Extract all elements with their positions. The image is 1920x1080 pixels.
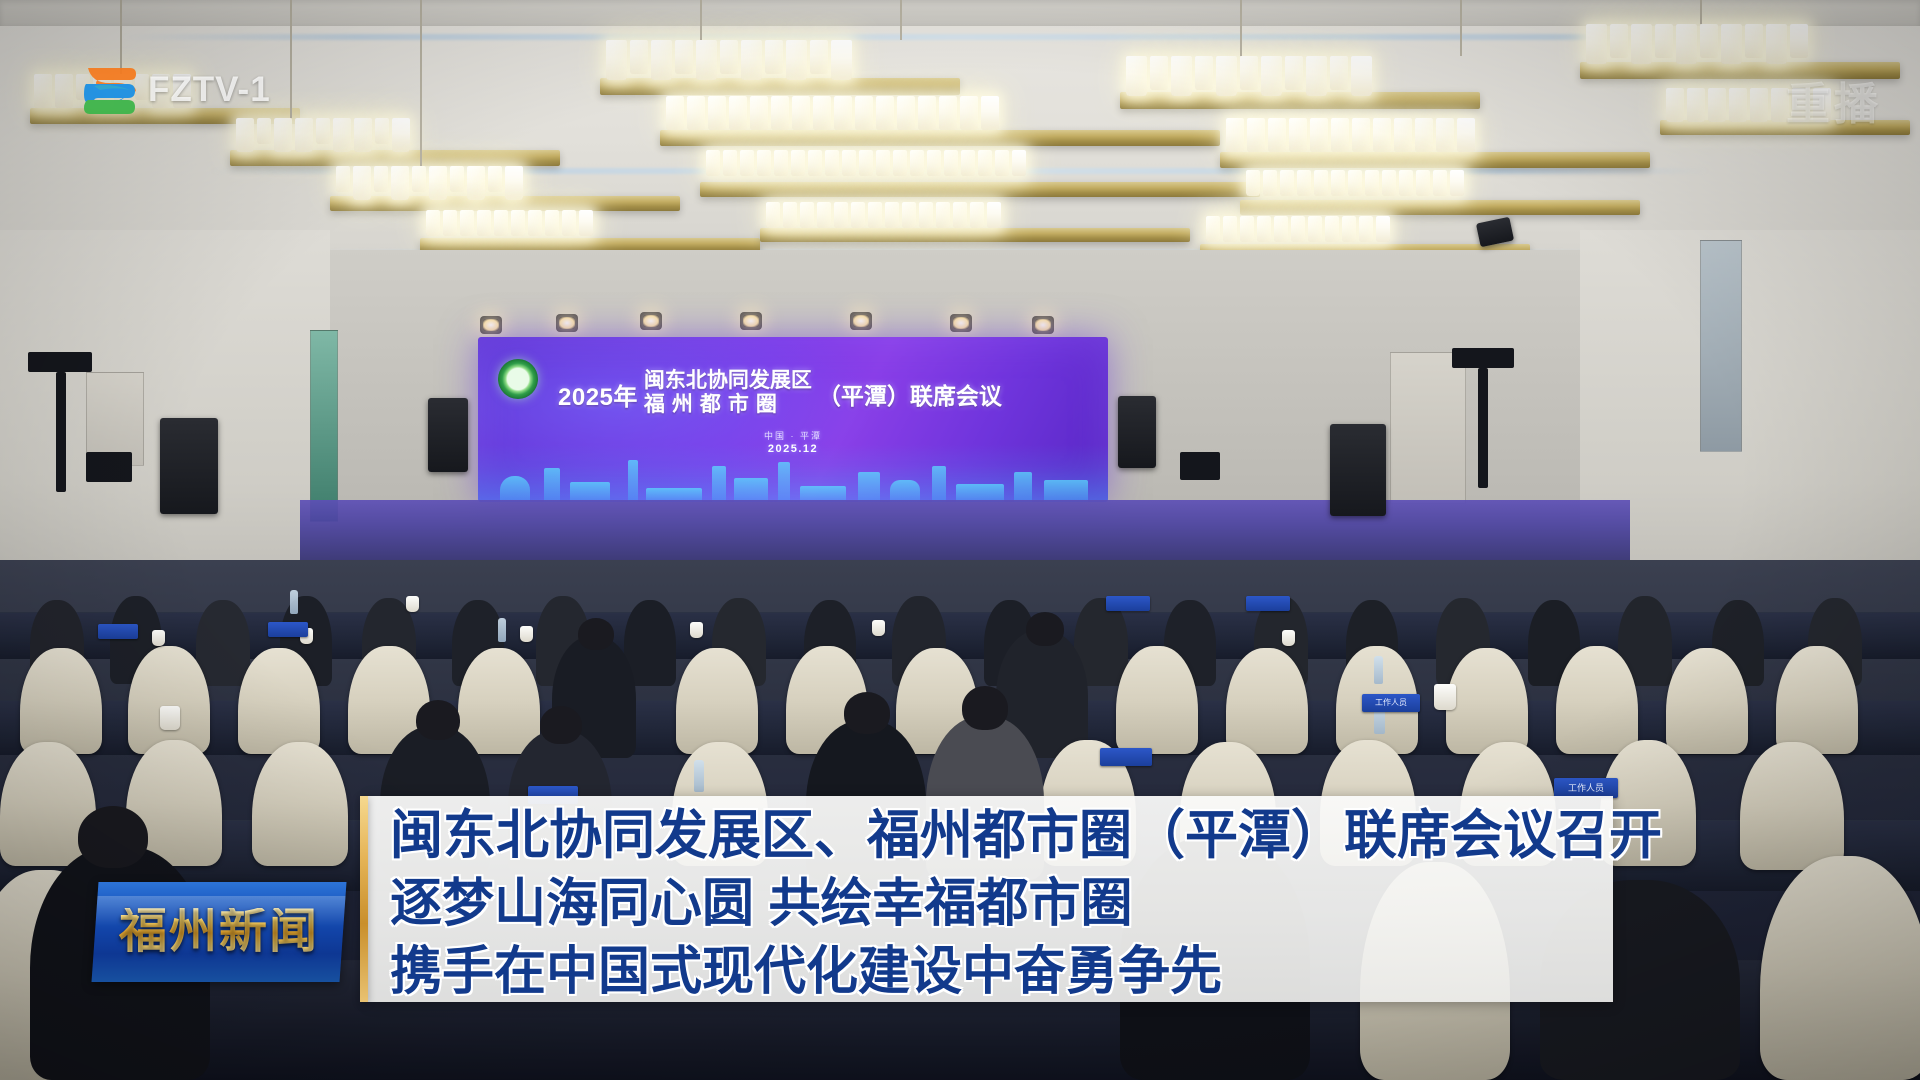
table-placard [98,624,138,639]
table-placard [1106,596,1150,611]
camera-tripod [1478,368,1488,488]
water-bottle [694,760,704,792]
audience-chair [20,648,102,754]
lamp-drop-rod [1460,0,1462,56]
audience-head [1026,612,1064,646]
lamp-drop-rod [900,0,902,40]
conference-emblem-icon [498,359,538,399]
camera-rig [28,352,92,372]
exit-sign-strip [310,330,338,522]
lower-third-caption-panel: 闽东北协同发展区、福州都市圈（平潭）联席会议召开 逐梦山海同心圆 共绘幸福都市圈… [368,796,1613,1002]
led-subtitle: 中国 · 平潭 [478,429,1108,442]
tea-cup [152,630,165,646]
audience-head [844,692,890,734]
audience-chair [1226,648,1308,754]
camera-body [1180,452,1220,480]
audience-chair [1116,646,1198,754]
chandelier-lamps [426,210,593,236]
lamp-drop-rod [1240,0,1242,56]
chandelier-lamps [1246,170,1464,196]
pa-speaker [1118,396,1156,468]
chandelier-lamps [766,202,1001,228]
lamp-drop-rod [420,0,422,166]
audience-chair [1666,648,1748,754]
water-bottle [498,618,506,642]
caption-line-2: 逐梦山海同心圆 共绘幸福都市圈 [390,870,1650,938]
caption-accent-bar [360,796,368,1002]
stage-spotlight [480,316,502,334]
tea-cup [406,596,419,612]
programme-badge-label: 福州新闻 [119,908,319,956]
chandelier-lamps [1206,216,1390,242]
lamp-drop-rod [700,0,702,40]
channel-name-label: FZTV-1 [148,70,271,110]
audience-chair [458,648,540,754]
stage-spotlight [640,312,662,330]
audience-chair [1446,648,1528,754]
pa-speaker [428,398,468,472]
broadcast-frame: 2025年 闽东北协同发展区 福州都市圈 （平潭）联席会议 中国 · 平潭 20… [0,0,1920,1080]
stage-spotlight [740,312,762,330]
wall-door [1390,352,1466,504]
audience-chair [1556,646,1638,754]
led-skyline-graphic [478,444,1108,502]
chandelier-rail [660,130,1220,146]
audience-head [78,806,148,868]
stage-led-screen: 2025年 闽东北协同发展区 福州都市圈 （平潭）联席会议 中国 · 平潭 20… [478,337,1108,502]
audience-head [962,686,1008,730]
camera-tripod [56,372,66,492]
rebroadcast-watermark: 重播 [1786,68,1882,132]
chandelier-lamps [1126,56,1372,96]
chandelier-lamps [336,166,523,200]
tea-cup [520,626,533,642]
chandelier-lamps [666,96,999,130]
table-placard [268,622,308,637]
programme-badge: 福州新闻 [92,882,347,982]
caption-line-3: 携手在中国式现代化建设中奋勇争先 [390,938,1650,1006]
chandelier-rail [1240,200,1640,215]
table-placard [1100,748,1152,766]
table-placard [1246,596,1290,611]
audience-chair [676,648,758,754]
led-title-line-1: 闽东北协同发展区 [644,369,812,393]
chandelier-lamps [236,118,410,152]
chandelier-lamps [1586,24,1808,64]
fztv-swoosh-logo-icon [78,62,140,118]
tea-cup [160,706,180,730]
tea-cup [1434,684,1456,710]
audience-head [578,618,614,650]
audience-chair [1776,646,1858,754]
camera-rig [1452,348,1514,368]
pa-speaker [160,418,218,514]
led-title-line-2: 福州都市圈 [644,393,812,417]
ceiling-recess [0,0,1920,26]
chandelier-lamps [706,150,1026,176]
stage-spotlight [950,314,972,332]
wall-column [1700,240,1742,452]
tea-cup [690,622,703,638]
chandelier-lamps [1226,118,1475,152]
pa-speaker [1330,424,1386,516]
table-placard: 工作人员 [1554,778,1618,798]
caption-line-1: 闽东北协同发展区、福州都市圈（平潭）联席会议召开 [390,802,1650,870]
chandelier-lamps [606,40,852,80]
audience-head [540,706,582,744]
camera-operator-head [86,452,132,482]
stage-spotlight [1032,316,1054,334]
stage-spotlight [850,312,872,330]
channel-logo-bug: FZTV-1 [78,62,271,118]
stage-spotlight [556,314,578,332]
audience-head [416,700,460,740]
lamp-drop-rod [290,0,292,118]
lamp-drop-rod [1700,0,1702,24]
tea-cup [872,620,885,636]
water-bottle [1374,656,1383,684]
audience-member [196,600,250,686]
audience-chair [238,648,320,754]
led-title-tail: （平潭）联席会议 [818,365,1002,411]
audience-chair [252,742,348,866]
chandelier-rail [230,150,560,166]
chandelier-rail [600,78,960,95]
led-screen-title: 2025年 闽东北协同发展区 福州都市圈 （平潭）联席会议 [558,365,1093,416]
caption-text-block: 闽东北协同发展区、福州都市圈（平潭）联席会议召开 逐梦山海同心圆 共绘幸福都市圈… [390,802,1650,1006]
chandelier-rail [1220,152,1650,168]
audience-chair [128,646,210,754]
chandelier-rail [760,228,1190,242]
led-year: 2025年 [558,365,638,412]
audience-chair [1740,742,1844,870]
tea-cup [1282,630,1295,646]
table-placard: 工作人员 [1362,694,1420,712]
ceiling-cove-light [120,34,1800,40]
water-bottle [290,590,298,614]
chandelier-rail [700,182,1260,197]
